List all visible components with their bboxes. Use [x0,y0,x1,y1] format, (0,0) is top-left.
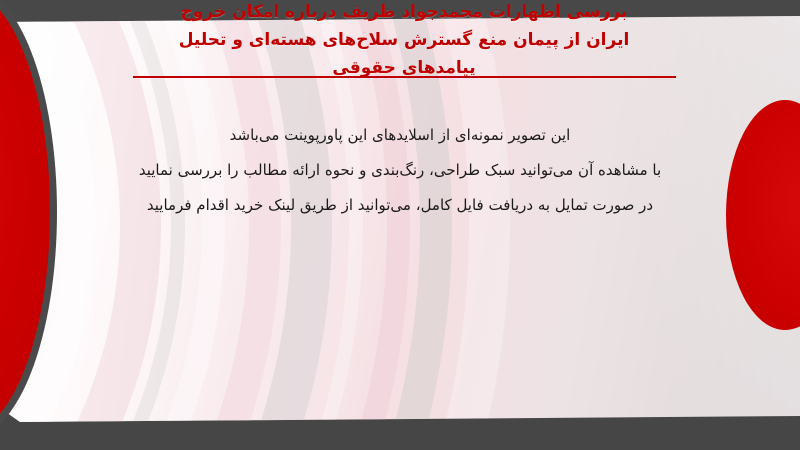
slide-title-line-1: بررسی اظهارات محمدجواد ظریف درباره امکان… [120,0,688,26]
slide-title: بررسی اظهارات محمدجواد ظریف درباره امکان… [120,0,688,82]
slide-body-line-3: در صورت تمایل به دریافت فایل کامل، می‌تو… [100,188,700,223]
title-underline-rule [133,76,676,78]
slide-body-text: این تصویر نمونه‌ای از اسلایدهای این پاور… [100,118,700,223]
slide-body-line-1: این تصویر نمونه‌ای از اسلایدهای این پاور… [100,118,700,153]
slide-body-line-2: با مشاهده آن می‌توانید سبک طراحی، رنگ‌بن… [100,153,700,188]
slide-title-line-2: ایران از پیمان منع گسترش سلاح‌های هسته‌ا… [120,26,688,54]
presentation-slide: بررسی اظهارات محمدجواد ظریف درباره امکان… [0,0,800,450]
